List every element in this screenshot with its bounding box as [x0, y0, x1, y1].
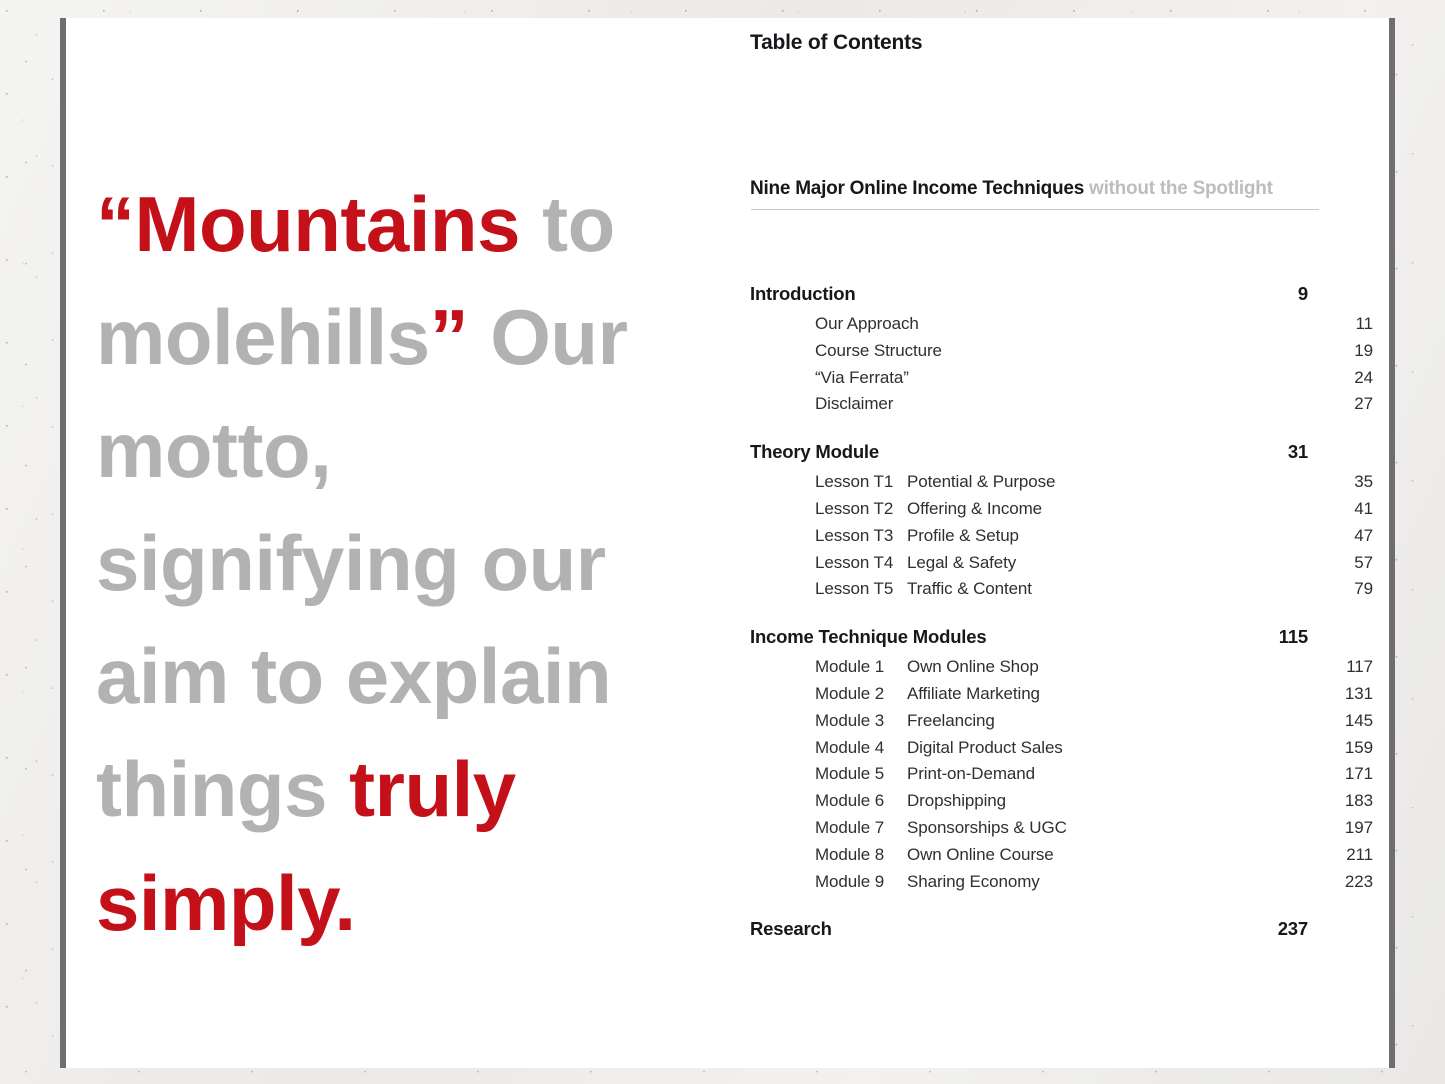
- toc-entry-label: Module 5: [815, 764, 907, 784]
- toc-entry-title: Our Approach: [815, 314, 1333, 334]
- toc-entry-title: “Via Ferrata”: [815, 368, 1333, 388]
- toc-section-title: Introduction: [750, 283, 1268, 305]
- toc-entry-row[interactable]: Lesson T2Offering & Income41: [750, 499, 1373, 526]
- toc-group: Research237: [750, 918, 1320, 949]
- toc-entry-page-number: 171: [1333, 764, 1373, 784]
- toc-entry-page-number: 24: [1333, 368, 1373, 388]
- toc-entry-title: Affiliate Marketing: [907, 684, 1333, 704]
- toc-entry-label: Module 6: [815, 791, 907, 811]
- toc-section-title: Income Technique Modules: [750, 626, 1268, 648]
- toc-entry-title: Digital Product Sales: [907, 738, 1333, 758]
- toc-entry-page-number: 197: [1333, 818, 1373, 838]
- toc-entry-label: Lesson T5: [815, 579, 907, 599]
- toc-entry-title: Disclaimer: [815, 394, 1333, 414]
- toc-entry-page-number: 47: [1333, 526, 1373, 546]
- quote-block: “Mountains to molehills” Our motto, sign…: [96, 168, 686, 960]
- toc-entry-label: Lesson T3: [815, 526, 907, 546]
- toc-section-title: Theory Module: [750, 441, 1268, 463]
- toc-entry-page-number: 223: [1333, 872, 1373, 892]
- toc-entry-page-number: 159: [1333, 738, 1373, 758]
- toc-entry-row[interactable]: Module 6Dropshipping183: [750, 791, 1373, 818]
- toc-entry-page-number: 117: [1333, 657, 1373, 677]
- toc-entry-page-number: 211: [1333, 845, 1373, 865]
- table-of-contents: Table of Contents Nine Major Online Inco…: [750, 18, 1345, 1068]
- toc-entry-row[interactable]: Lesson T4Legal & Safety57: [750, 553, 1373, 580]
- toc-entry-row[interactable]: Lesson T5Traffic & Content79: [750, 579, 1373, 606]
- toc-entry-title: Traffic & Content: [907, 579, 1333, 599]
- toc-entry-title: Freelancing: [907, 711, 1333, 731]
- toc-section-row[interactable]: Income Technique Modules115: [750, 626, 1308, 657]
- toc-entry-row[interactable]: Lesson T1Potential & Purpose35: [750, 472, 1373, 499]
- book-spread: “Mountains to molehills” Our motto, sign…: [0, 0, 1445, 1084]
- toc-section-page-number: 115: [1268, 626, 1308, 648]
- toc-entry-title: Dropshipping: [907, 791, 1333, 811]
- toc-entry-title: Own Online Course: [907, 845, 1333, 865]
- toc-entry-row[interactable]: Module 9Sharing Economy223: [750, 872, 1373, 899]
- toc-group: Introduction9Our Approach11Course Struct…: [750, 283, 1320, 421]
- toc-entry-row[interactable]: Module 8Own Online Course211: [750, 845, 1373, 872]
- quote-segment-red: “Mountains: [96, 180, 542, 268]
- toc-divider: [751, 209, 1319, 210]
- toc-entry-list: Introduction9Our Approach11Course Struct…: [750, 283, 1320, 969]
- toc-entry-page-number: 79: [1333, 579, 1373, 599]
- toc-entry-row[interactable]: Module 1Own Online Shop117: [750, 657, 1373, 684]
- toc-entry-label: Module 4: [815, 738, 907, 758]
- toc-entry-page-number: 145: [1333, 711, 1373, 731]
- right-page: Table of Contents Nine Major Online Inco…: [723, 18, 1395, 1068]
- toc-entry-row[interactable]: Module 2Affiliate Marketing131: [750, 684, 1373, 711]
- toc-entry-row[interactable]: Lesson T3Profile & Setup47: [750, 526, 1373, 553]
- toc-section-page-number: 237: [1268, 918, 1308, 940]
- toc-entry-row[interactable]: Module 7Sponsorships & UGC197: [750, 818, 1373, 845]
- toc-entry-label: Module 8: [815, 845, 907, 865]
- toc-entry-label: Lesson T4: [815, 553, 907, 573]
- toc-entry-page-number: 27: [1333, 394, 1373, 414]
- toc-subtitle: Nine Major Online Income Techniques with…: [750, 178, 1320, 200]
- toc-entry-label: Module 2: [815, 684, 907, 704]
- toc-entry-row[interactable]: Disclaimer27: [750, 394, 1373, 421]
- toc-entry-label: Module 1: [815, 657, 907, 677]
- toc-entry-row[interactable]: Module 3Freelancing145: [750, 711, 1373, 738]
- toc-entry-title: Profile & Setup: [907, 526, 1333, 546]
- toc-section-page-number: 31: [1268, 441, 1308, 463]
- toc-entry-page-number: 183: [1333, 791, 1373, 811]
- toc-section-row[interactable]: Theory Module31: [750, 441, 1308, 472]
- toc-entry-label: Module 9: [815, 872, 907, 892]
- toc-entry-title: Course Structure: [815, 341, 1333, 361]
- toc-section-row[interactable]: Introduction9: [750, 283, 1308, 314]
- toc-group: Theory Module31Lesson T1Potential & Purp…: [750, 441, 1320, 606]
- toc-entry-title: Own Online Shop: [907, 657, 1333, 677]
- toc-section-row[interactable]: Research237: [750, 918, 1308, 949]
- toc-entry-page-number: 57: [1333, 553, 1373, 573]
- toc-section-page-number: 9: [1268, 283, 1308, 305]
- quote-segment-red: ”: [430, 293, 491, 381]
- toc-entry-title: Sponsorships & UGC: [907, 818, 1333, 838]
- left-page: “Mountains to molehills” Our motto, sign…: [60, 18, 723, 1068]
- toc-entry-title: Sharing Economy: [907, 872, 1333, 892]
- toc-entry-page-number: 19: [1333, 341, 1373, 361]
- toc-entry-row[interactable]: Module 4Digital Product Sales159: [750, 738, 1373, 765]
- toc-entry-row[interactable]: Module 5Print-on-Demand171: [750, 764, 1373, 791]
- toc-entry-title: Legal & Safety: [907, 553, 1333, 573]
- toc-entry-page-number: 11: [1333, 314, 1373, 334]
- toc-entry-page-number: 131: [1333, 684, 1373, 704]
- toc-entry-title: Print-on-Demand: [907, 764, 1333, 784]
- toc-subtitle-strong: Nine Major Online Income Techniques: [750, 178, 1084, 199]
- toc-subtitle-muted: without the Spotlight: [1084, 178, 1273, 199]
- toc-group: Income Technique Modules115Module 1Own O…: [750, 626, 1320, 898]
- toc-entry-row[interactable]: Our Approach11: [750, 314, 1373, 341]
- toc-section-title: Research: [750, 918, 1268, 940]
- toc-entry-label: Lesson T1: [815, 472, 907, 492]
- toc-entry-row[interactable]: Course Structure19: [750, 341, 1373, 368]
- toc-entry-label: Module 7: [815, 818, 907, 838]
- toc-entry-page-number: 41: [1333, 499, 1373, 519]
- toc-entry-page-number: 35: [1333, 472, 1373, 492]
- toc-entry-row[interactable]: “Via Ferrata”24: [750, 368, 1373, 395]
- toc-entry-label: Module 3: [815, 711, 907, 731]
- page-title: Table of Contents: [750, 31, 922, 55]
- toc-entry-title: Potential & Purpose: [907, 472, 1333, 492]
- toc-entry-label: Lesson T2: [815, 499, 907, 519]
- toc-entry-title: Offering & Income: [907, 499, 1333, 519]
